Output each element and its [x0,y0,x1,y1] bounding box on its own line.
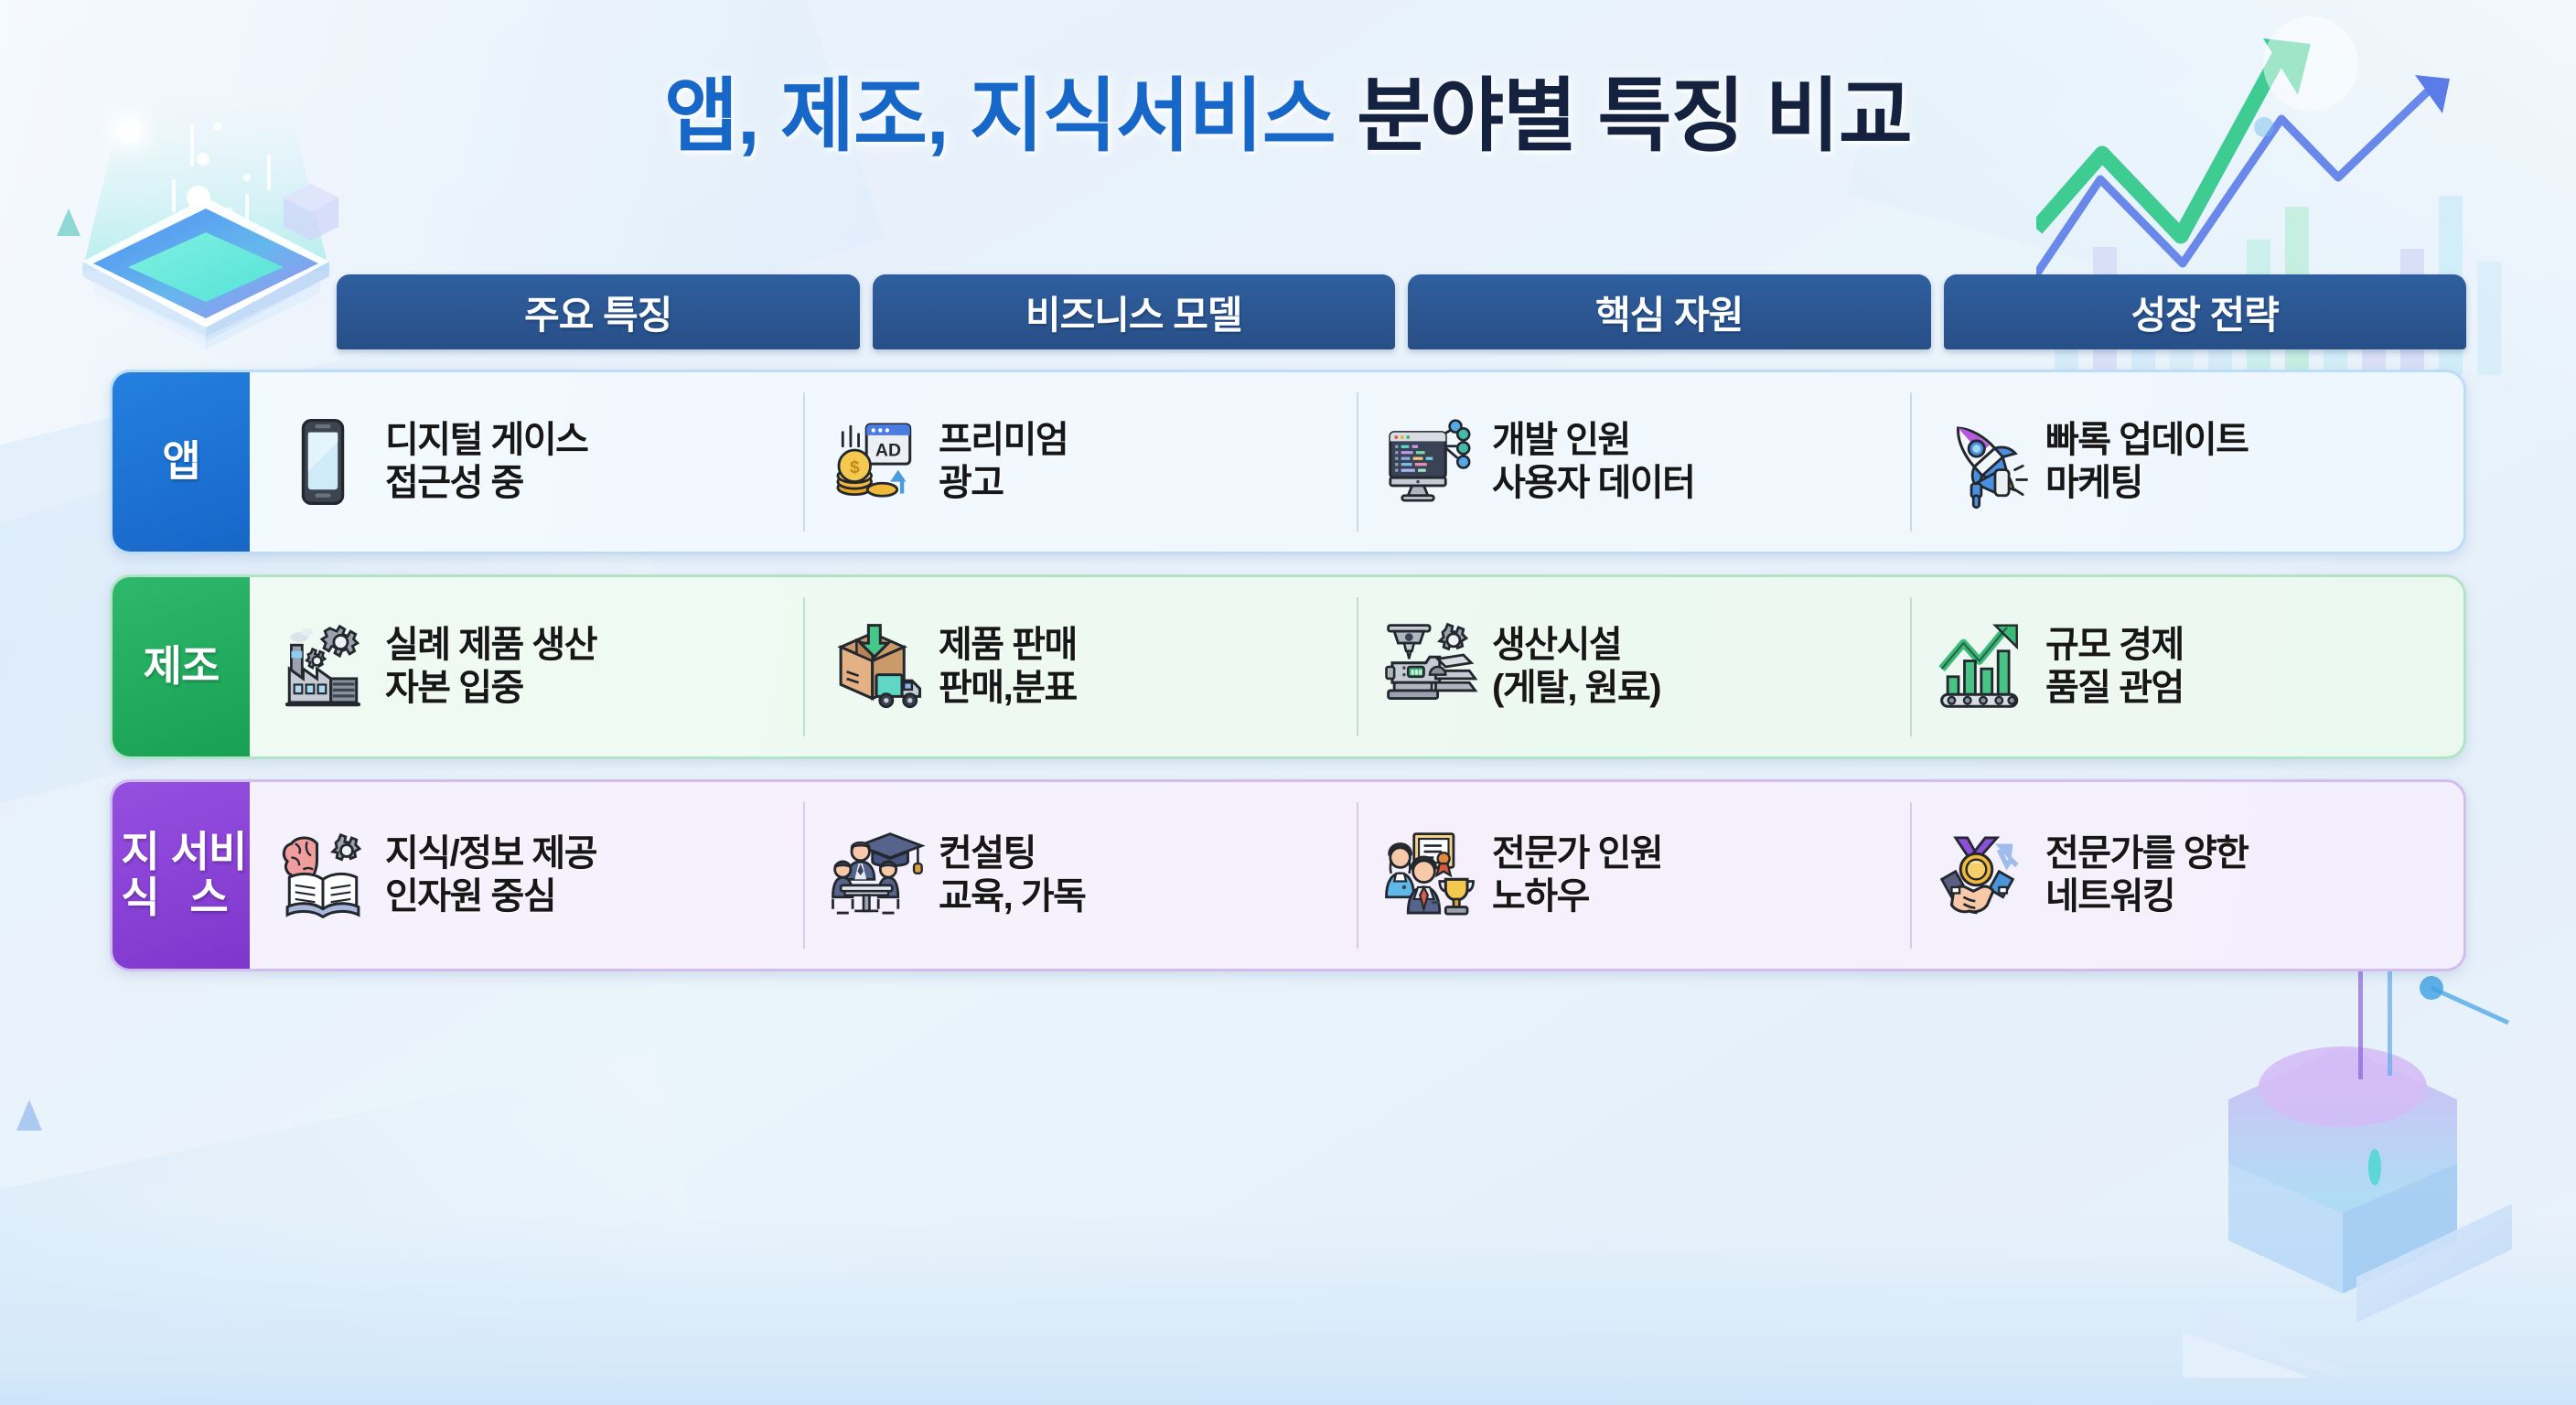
svg-text:AD: AD [875,441,901,461]
cell-text: 규모 경제 품질 관엄 [2045,624,2184,710]
cell-knowledge-growth-strategy: 전문가를 양한 네트워킹 [1910,782,2463,969]
page-title-rest: 분야별 특징 비교 [1357,70,1912,161]
growth-chart-icon [1934,617,2033,716]
cell-text: 빠록 업데이트 마케팅 [2045,419,2248,505]
row-label-manufacturing: 제조 [113,577,250,756]
cell-line-2: 판매,분표 [939,667,1077,710]
row-cells-manufacturing: 실례 제품 생산 자본 입중 [250,577,2463,756]
cell-manufacturing-growth-strategy: 규모 경제 품질 관엄 [1910,577,2463,756]
cell-knowledge-main-features: 지식/정보 제공 인자원 중심 [250,782,803,969]
cell-manufacturing-core-resources: 생산시설 (게탈, 원료) [1357,577,1910,756]
row-label-line-2: 서비스 [167,830,250,920]
page-title: 앱, 제조, 지식서비스 분야별 특징 비교 [0,51,2576,167]
row-cells-app: 디지털 게이스 접근성 중 AD [250,372,2463,552]
column-header-main-features: 주요 특징 [337,274,860,349]
cell-line-1: 전문가를 양한 [2045,832,2248,875]
factory-gear-icon [274,617,372,716]
bg-diagonal-shape-4 [0,1050,754,1405]
cell-line-2: 접근성 중 [385,462,587,505]
cell-text: 개발 인원 사용자 데이터 [1492,419,1694,505]
cell-line-1: 실례 제품 생산 [385,624,596,667]
cell-text: 전문가를 양한 네트워킹 [2045,832,2248,918]
cell-knowledge-business-model: 컨설팅 교육, 가독 [803,782,1357,969]
cell-line-2: (게탈, 원료) [1492,667,1660,710]
cell-line-1: 생산시설 [1492,624,1660,667]
cell-text: 전문가 인원 노하우 [1492,832,1662,918]
cell-line-1: 프리미엄 [939,419,1068,462]
cell-line-1: 제품 판매 [939,624,1077,667]
brain-book-icon [274,826,372,925]
svg-text:$: $ [850,457,860,477]
cell-line-2: 교육, 가독 [939,875,1085,918]
cell-text: 지식/정보 제공 인자원 중심 [385,832,596,918]
column-header-core-resources: 핵심 자원 [1408,274,1931,349]
cell-line-1: 컨설팅 [939,832,1085,875]
isometric-server-illustration [2183,938,2567,1378]
cnc-machine-icon [1380,617,1479,716]
page-title-highlight: 앱, 제조, 지식서비스 [664,70,1335,161]
row-label-app: 앱 [113,372,250,552]
meeting-graduation-icon [827,826,926,925]
row-cells-knowledge-service: 지식/정보 제공 인자원 중심 [250,782,2463,969]
cell-line-2: 네트워킹 [2045,875,2248,918]
cell-app-business-model: AD $ 프리미엄 광고 [803,372,1357,552]
cell-text: 컨설팅 교육, 가독 [939,832,1085,918]
smartphone-icon [274,413,372,511]
column-header-growth-strategy: 성장 전략 [1944,274,2467,349]
experts-trophy-icon [1380,826,1479,925]
cell-line-1: 지식/정보 제공 [385,832,596,875]
row-label-line-1: 지식 [113,830,167,920]
cell-line-2: 자본 입중 [385,667,596,710]
cell-line-1: 디지털 게이스 [385,419,587,462]
cell-knowledge-core-resources: 전문가 인원 노하우 [1357,782,1910,969]
cell-line-1: 개발 인원 [1492,419,1694,462]
cell-line-1: 전문가 인원 [1492,832,1662,875]
cell-app-growth-strategy: 빠록 업데이트 마케팅 [1910,372,2463,552]
column-header-business-model: 비즈니스 모델 [873,274,1396,349]
cell-text: 프리미엄 광고 [939,419,1068,505]
cell-line-1: 빠록 업데이트 [2045,419,2248,462]
cell-text: 디지털 게이스 접근성 중 [385,419,587,505]
table-header-row: 주요 특징 비즈니스 모델 핵심 자원 성장 전략 [337,274,2466,349]
triangle-accent-icon-2 [16,1099,42,1131]
cell-manufacturing-main-features: 실례 제품 생산 자본 입중 [250,577,803,756]
row-label-knowledge-service: 지식 서비스 [113,782,250,969]
handshake-medal-icon [1934,826,2033,925]
table-row-app: 앱 디지털 게이스 접근성 중 [110,370,2466,554]
cell-text: 생산시설 (게탈, 원료) [1492,624,1660,710]
cell-line-2: 인자원 중심 [385,875,596,918]
cell-app-main-features: 디지털 게이스 접근성 중 [250,372,803,552]
ad-coins-icon: AD $ [827,413,926,511]
cell-line-2: 사용자 데이터 [1492,462,1694,505]
cell-line-2: 노하우 [1492,875,1662,918]
comparison-table: 주요 특징 비즈니스 모델 핵심 자원 성장 전략 앱 디지털 게이스 [110,274,2466,971]
bg-bottom-band [0,1213,2576,1405]
cell-line-2: 마케팅 [2045,462,2248,505]
table-row-knowledge-service: 지식 서비스 [110,779,2466,971]
rocket-megaphone-icon [1934,413,2033,511]
triangle-accent-icon [57,209,80,236]
box-truck-icon [827,617,926,716]
cell-app-core-resources: 개발 인원 사용자 데이터 [1357,372,1910,552]
cell-line-1: 규모 경제 [2045,624,2184,667]
cell-text: 실례 제품 생산 자본 입중 [385,624,596,710]
page-title-wrap: 앱, 제조, 지식서비스 분야별 특징 비교 [0,51,2576,167]
cell-text: 제품 판매 판매,분표 [939,624,1077,710]
cell-manufacturing-business-model: 제품 판매 판매,분표 [803,577,1357,756]
code-monitor-icon [1380,413,1479,511]
cell-line-2: 품질 관엄 [2045,667,2184,710]
table-row-manufacturing: 제조 [110,574,2466,759]
cell-line-2: 광고 [939,462,1068,505]
